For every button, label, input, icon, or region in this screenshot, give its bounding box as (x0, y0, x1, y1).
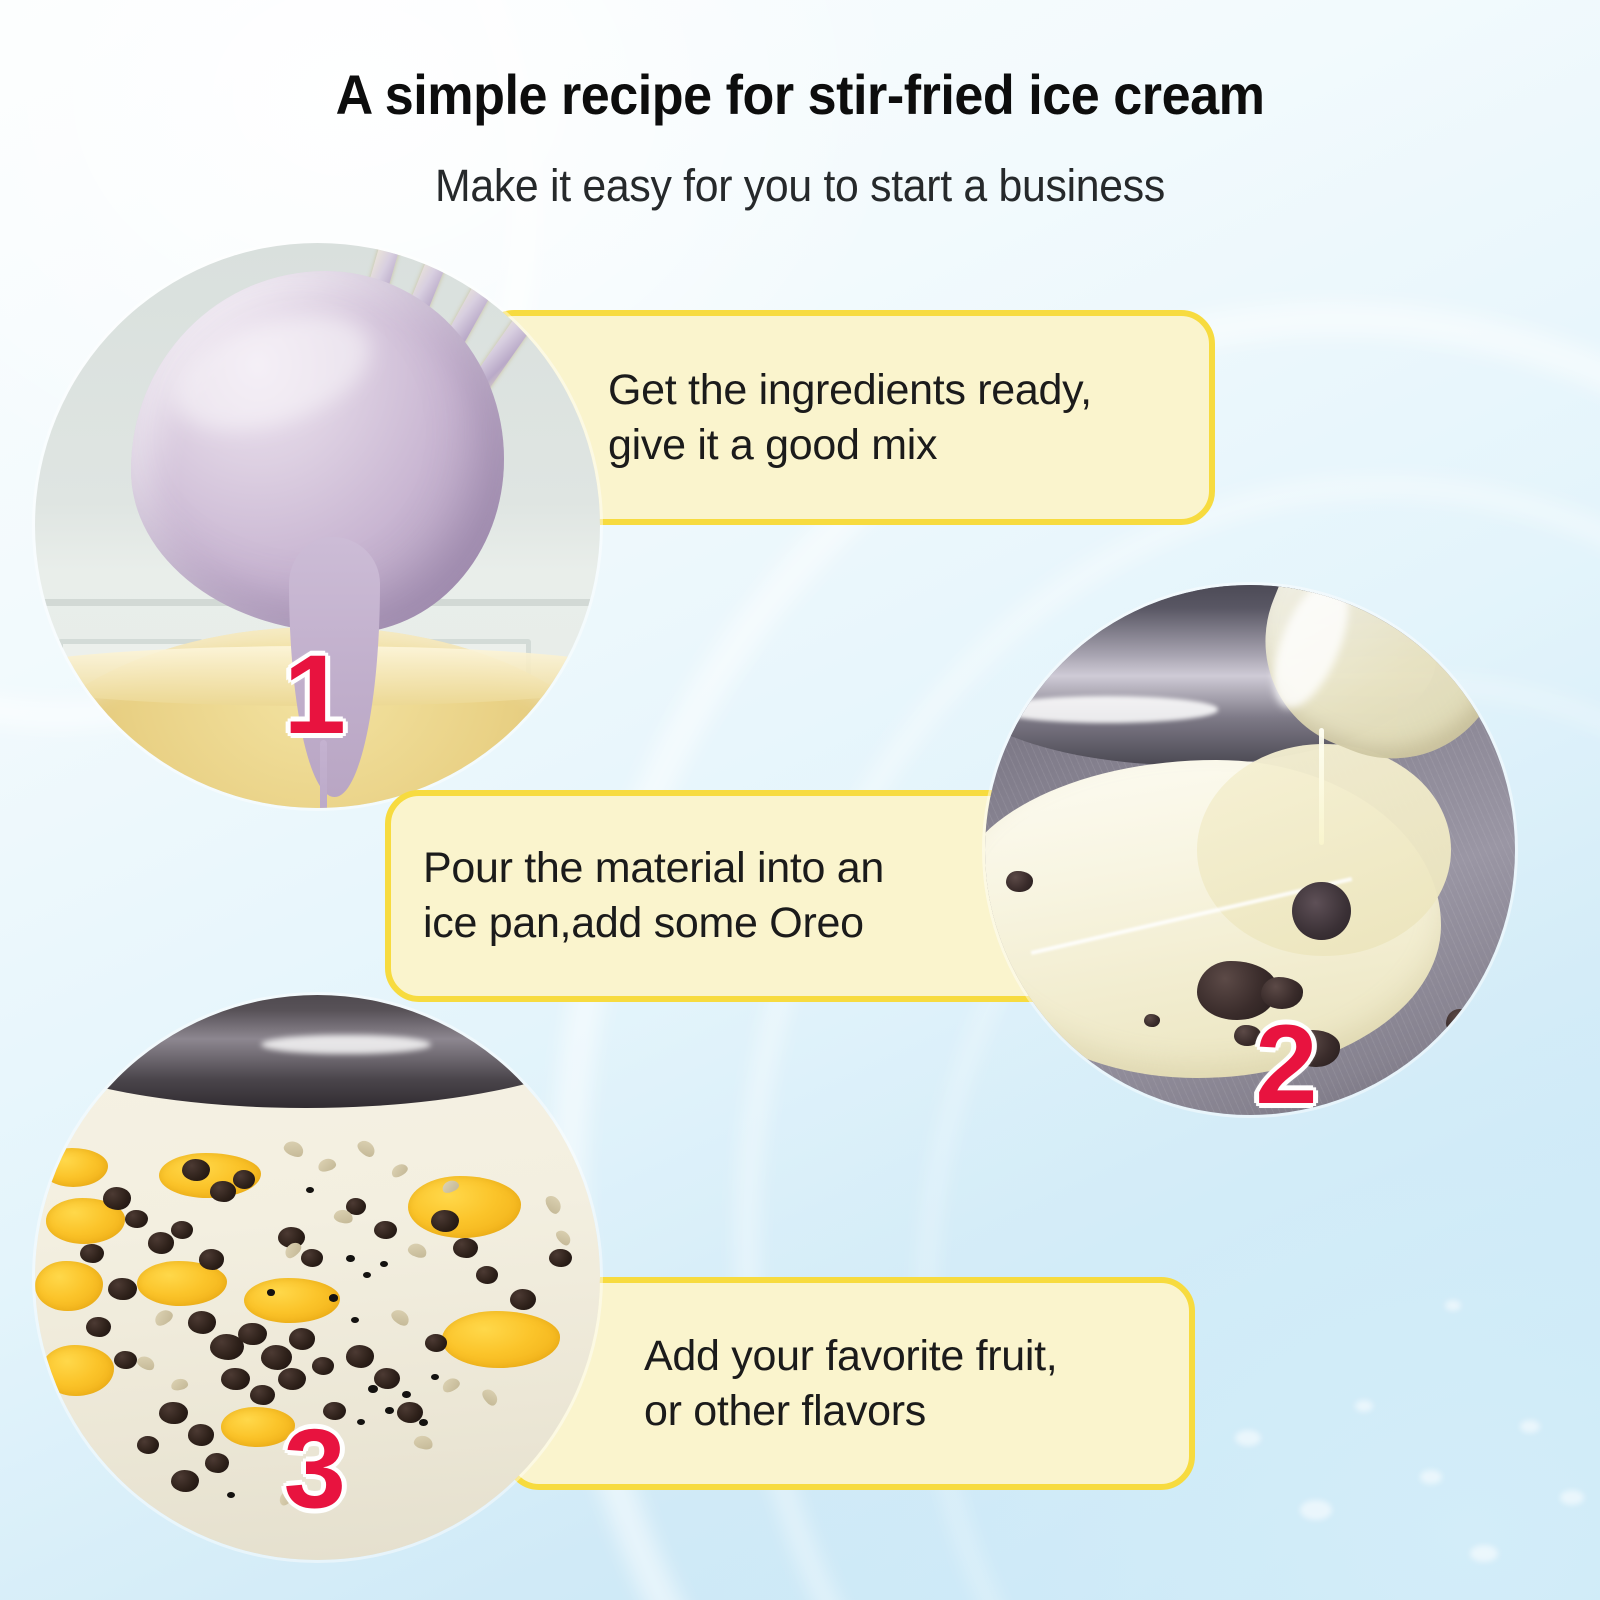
chocolate-bit (103, 1187, 131, 1210)
chocolate-bit (238, 1323, 266, 1346)
chocolate-bit (171, 1470, 199, 1493)
chocolate-bit (199, 1249, 224, 1269)
bokeh-dot-icon (1235, 1430, 1261, 1446)
oreo-crumb (1446, 1009, 1478, 1036)
chocolate-bit (261, 1345, 292, 1370)
chocolate-bit (221, 1368, 249, 1391)
step-2-text: Pour the material into an ice pan,add so… (423, 841, 884, 950)
chocolate-bit (250, 1385, 275, 1405)
chocolate-bit (374, 1221, 397, 1239)
chocolate-bit (114, 1351, 137, 1369)
chocolate-bit (188, 1311, 216, 1334)
oreo-cookie (1292, 882, 1350, 940)
sesame-seed (368, 1385, 378, 1393)
step-2-number: 2 (1255, 1009, 1317, 1115)
chocolate-bit (453, 1238, 478, 1258)
bokeh-dot-icon (1560, 1490, 1584, 1505)
chocolate-bit (510, 1289, 536, 1310)
bokeh-dot-icon (1470, 1545, 1498, 1562)
page-subtitle: Make it easy for you to start a business (40, 160, 1560, 212)
bokeh-dot-icon (1445, 1300, 1461, 1311)
chocolate-bit (289, 1328, 315, 1349)
chocolate-bit (137, 1436, 160, 1454)
bokeh-dot-icon (1355, 1400, 1373, 1412)
chocolate-bit (171, 1221, 194, 1239)
oreo-crumb (1006, 871, 1033, 892)
sesame-seed (329, 1294, 338, 1301)
step-2-photo: 2 (985, 585, 1515, 1115)
bokeh-dot-icon (1300, 1500, 1332, 1520)
step-3-callout: Add your favorite fruit, or other flavor… (505, 1277, 1195, 1490)
infographic-page: A simple recipe for stir-fried ice cream… (0, 0, 1600, 1600)
step-3-number: 3 (284, 1413, 346, 1525)
sesame-seed (346, 1255, 355, 1262)
chocolate-bit (312, 1357, 335, 1375)
chocolate-bit (108, 1278, 136, 1301)
bokeh-dot-icon (1520, 1420, 1540, 1433)
chocolate-bit (125, 1210, 148, 1228)
chocolate-bit (205, 1453, 230, 1473)
chocolate-bit (210, 1181, 235, 1201)
sesame-seed (363, 1272, 371, 1278)
page-title: A simple recipe for stir-fried ice cream (56, 62, 1544, 127)
chocolate-bit (431, 1210, 459, 1233)
chocolate-bit (148, 1232, 174, 1253)
step-1-text: Get the ingredients ready, give it a goo… (608, 363, 1092, 472)
sesame-seed (357, 1419, 365, 1425)
sesame-seed (385, 1407, 393, 1414)
chocolate-bit (374, 1368, 400, 1389)
sesame-seed (402, 1391, 411, 1398)
oreo-crumb (1144, 1014, 1160, 1027)
pan-rim-highlight (996, 696, 1219, 723)
chocolate-bit (346, 1345, 374, 1368)
step-1-photo: 1 (35, 243, 600, 808)
step-1-number: 1 (284, 639, 346, 751)
step-3-photo: 3 (35, 995, 600, 1560)
bokeh-dot-icon (1420, 1470, 1442, 1484)
chocolate-bit (159, 1402, 187, 1425)
chocolate-bit (549, 1249, 572, 1267)
chocolate-bit (86, 1317, 111, 1337)
sesame-seed (267, 1289, 275, 1296)
chocolate-bit (80, 1244, 104, 1263)
photo-2-scene (985, 585, 1515, 1115)
step-3-text: Add your favorite fruit, or other flavor… (644, 1329, 1057, 1438)
pouring-stream (1319, 728, 1324, 845)
pan-edge-highlight (261, 1035, 431, 1055)
chocolate-bit (188, 1424, 214, 1445)
